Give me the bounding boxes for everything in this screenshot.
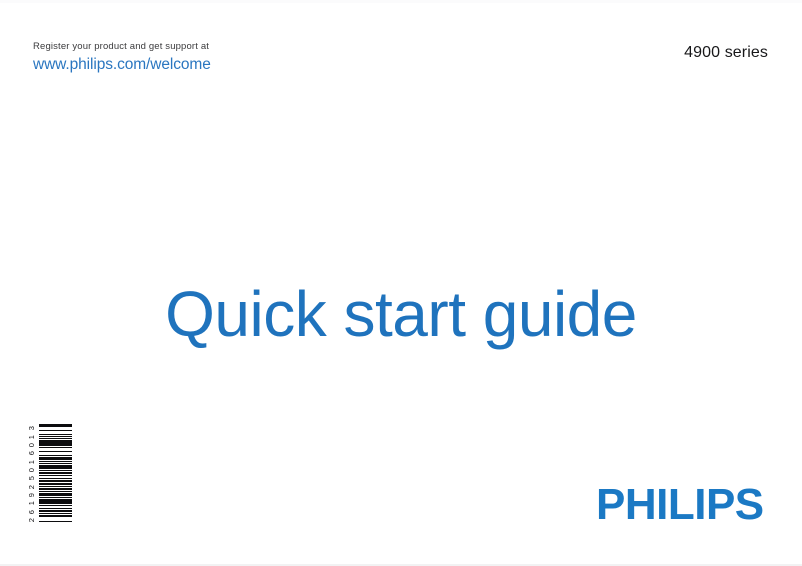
product-series-label: 4900 series bbox=[684, 43, 768, 63]
quick-start-guide-cover-page: Register your product and get support at… bbox=[0, 0, 802, 566]
page-top-edge bbox=[0, 0, 802, 3]
barcode: 310610529162 bbox=[26, 424, 72, 524]
barcode-bars bbox=[39, 424, 72, 524]
philips-welcome-url[interactable]: www.philips.com/welcome bbox=[33, 55, 211, 74]
barcode-digit: 2 bbox=[28, 515, 36, 525]
page-title: Quick start guide bbox=[0, 275, 802, 353]
philips-logo: PHILIPS bbox=[596, 483, 764, 527]
register-product-text: Register your product and get support at bbox=[33, 41, 209, 53]
barcode-number: 310610529162 bbox=[26, 424, 37, 524]
